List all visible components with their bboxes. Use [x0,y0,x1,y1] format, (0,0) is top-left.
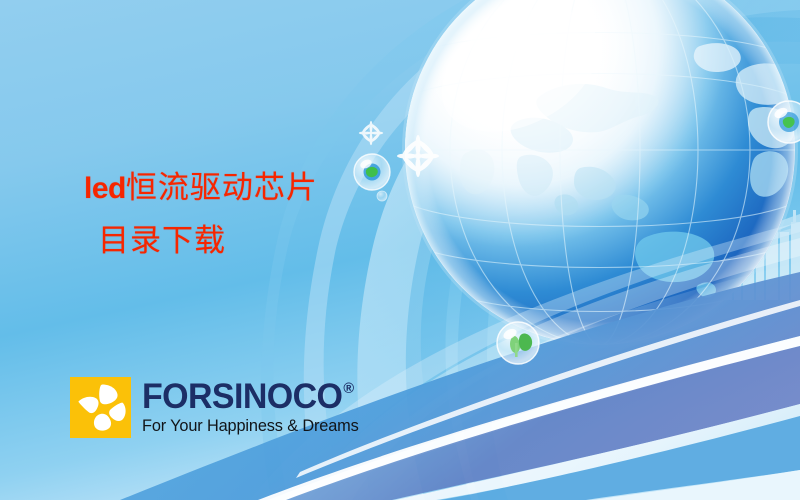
registered-trademark-symbol: ® [343,381,353,396]
flower-icon [70,377,131,438]
bubble-globe [354,154,390,190]
forsinoco-flower-mark [70,377,131,438]
bubble-leaf [497,322,539,364]
logo-wordmark: FORSINOCO ® For Your Happiness & Dreams [142,379,361,436]
brand-logo: FORSINOCO ® For Your Happiness & Dreams [70,377,361,438]
brand-tagline: For Your Happiness & Dreams [142,417,359,436]
cover-canvas: led恒流驱动芯片 目录下载 FORSINOCO ® For Your Happ… [0,0,800,500]
brand-name: FORSINOCO ® [142,379,354,414]
brand-name-text: FORSINOCO [142,379,342,414]
bubble-tiny-left [377,191,387,201]
